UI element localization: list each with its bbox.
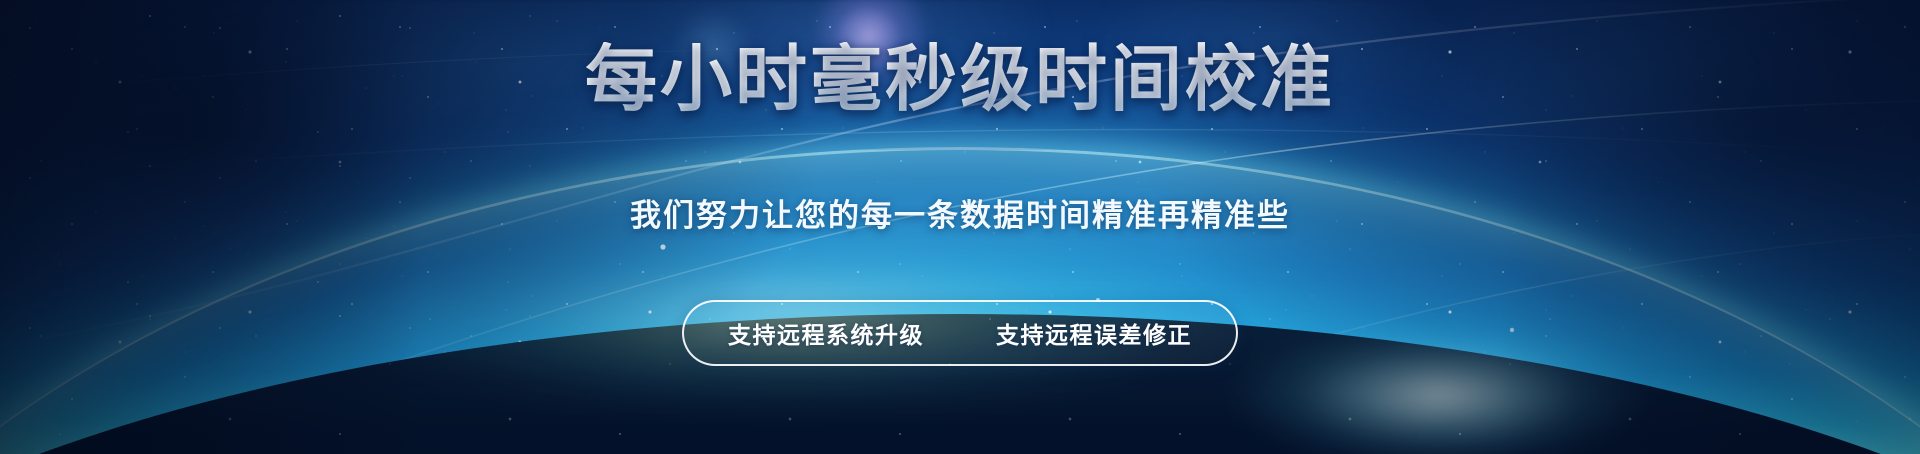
feature-pill-group: 支持远程系统升级 支持远程误差修正 xyxy=(682,300,1238,366)
feature-remote-system-upgrade[interactable]: 支持远程系统升级 xyxy=(728,316,924,350)
banner-subtitle: 我们努力让您的每一条数据时间精准再精准些 xyxy=(630,190,1290,235)
banner-headline: 每小时毫秒级时间校准 xyxy=(585,42,1335,120)
hero-banner: 每小时毫秒级时间校准 我们努力让您的每一条数据时间精准再精准些 支持远程系统升级… xyxy=(0,0,1920,454)
feature-remote-error-correction[interactable]: 支持远程误差修正 xyxy=(996,316,1192,350)
banner-content: 每小时毫秒级时间校准 我们努力让您的每一条数据时间精准再精准些 支持远程系统升级… xyxy=(0,0,1920,454)
